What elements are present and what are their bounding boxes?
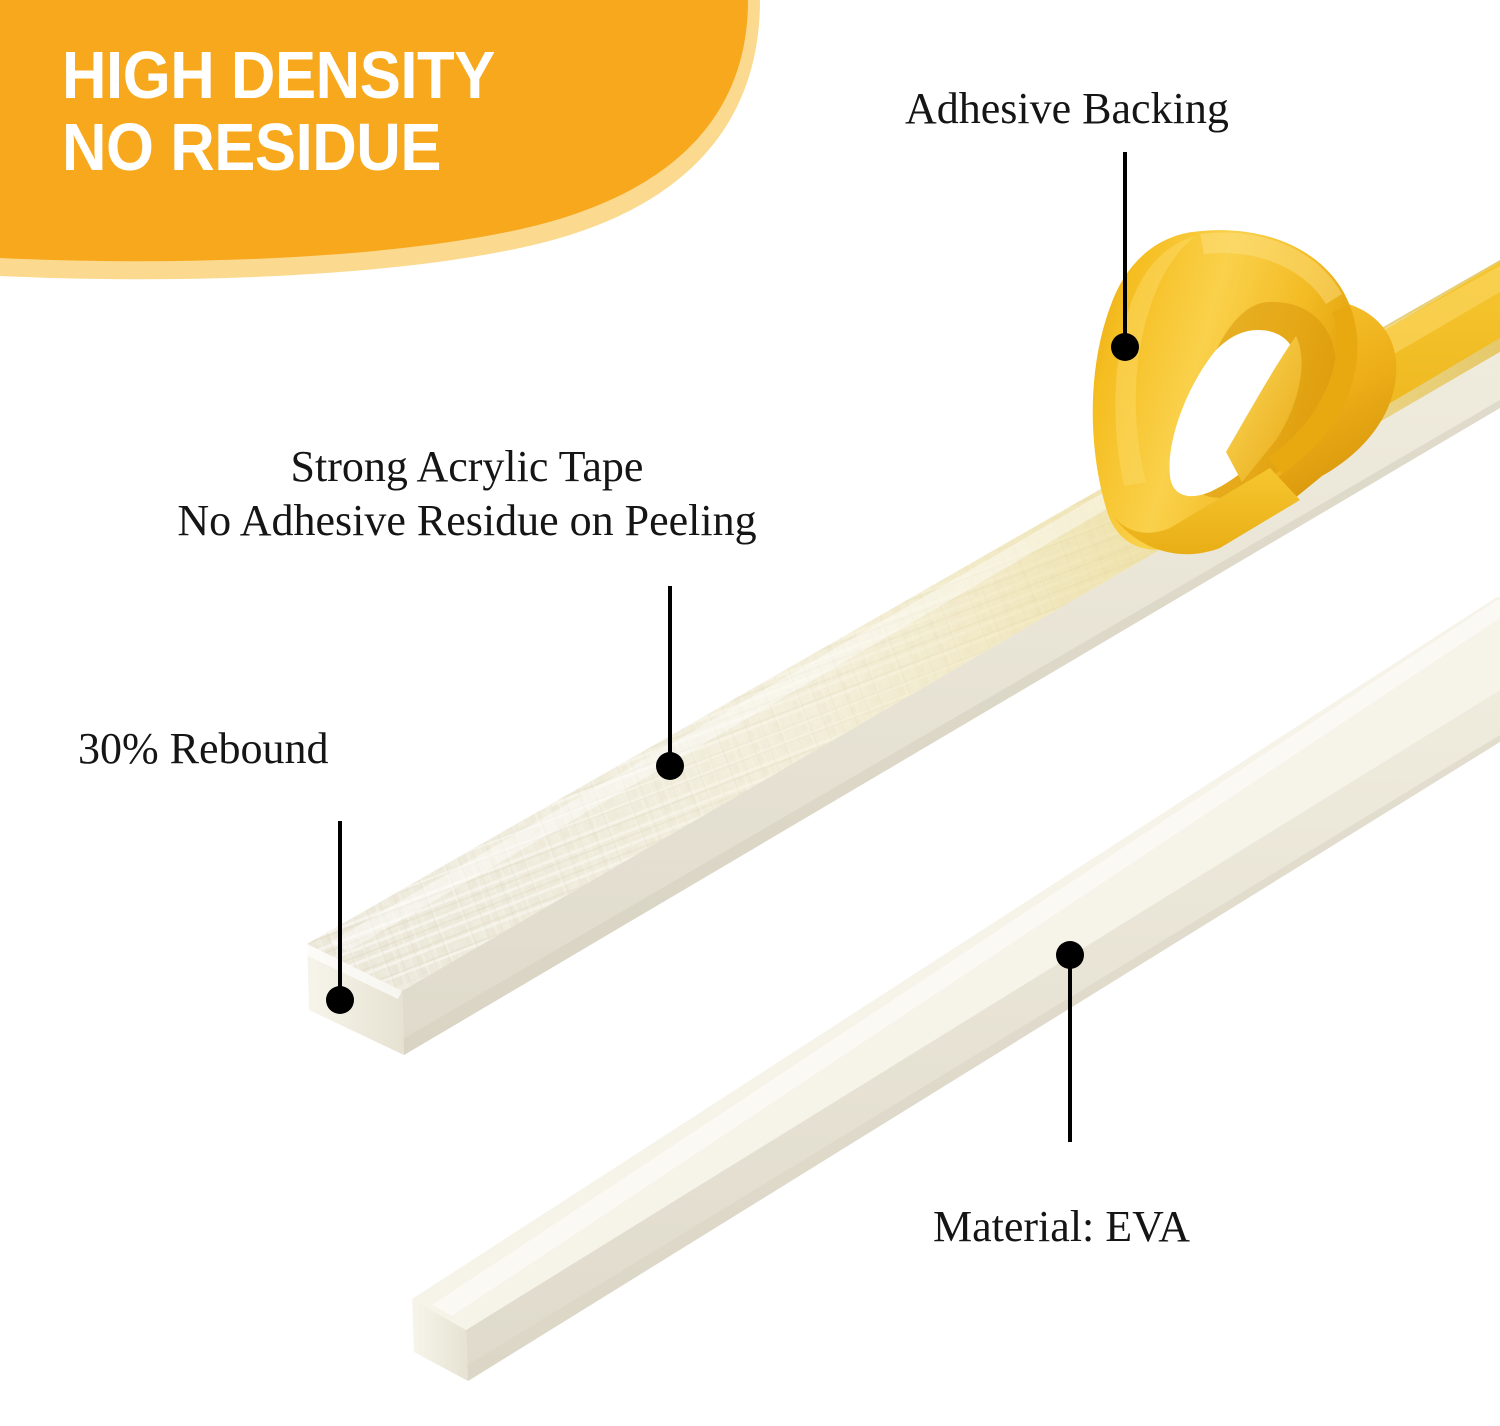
strip2-end-cap [412,1299,468,1381]
callout-material: Material: EVA [933,1200,1190,1254]
callout-acrylic-tape-line-2: No Adhesive Residue on Peeling [52,494,882,548]
liner-loop-base-fold [1110,468,1300,554]
liner-flat-section [1118,262,1500,524]
adhesive-backed-foam-strip [306,260,1500,1055]
strip1-adhesive-weave-lines [307,260,1500,991]
liner-loop-back-band [1236,299,1396,512]
strip1-adhesive-texture [307,260,1500,991]
liner-fold-tab [1226,336,1302,482]
strip1-top-face [307,260,1500,991]
leader-dot [1111,333,1139,361]
strip1-adhesive-residue [307,260,1500,991]
callout-adhesive-backing: Adhesive Backing [905,82,1229,136]
strip2-bottom-shadow [466,735,1500,1381]
leader-dot [1056,941,1084,969]
callout-adhesive-backing-text: Adhesive Backing [905,82,1229,136]
liner-loop-hole [1170,330,1299,496]
banner-title-line-2: NO RESIDUE [62,112,651,184]
leader-material [1056,941,1084,1142]
leader-dot [326,986,354,1014]
strip1-top-far-edge-highlight [330,262,1500,951]
strip1-end-cap-highlight [306,944,402,999]
callout-material-text: Material: EVA [933,1200,1190,1254]
callout-acrylic-tape: Strong Acrylic Tape No Adhesive Residue … [52,440,882,547]
banner-title-line-1: HIGH DENSITY [62,40,651,112]
strip2-front-face [466,690,1500,1381]
product-infographic: HIGH DENSITY NO RESIDUE [0,0,1500,1426]
callout-rebound: 30% Rebound [78,722,329,776]
callout-acrylic-tape-line-1: Strong Acrylic Tape [52,440,882,494]
banner-title: HIGH DENSITY NO RESIDUE [62,40,651,185]
liner-loop-inner-shadow [1185,302,1336,498]
strip1-end-cap [307,944,404,1055]
callout-rebound-text: 30% Rebound [78,722,329,776]
liner-loop-right-curl [1268,306,1357,474]
leader-rebound [326,821,354,1014]
plain-eva-foam-strip [412,597,1500,1381]
release-liner-on-strip [1118,262,1500,524]
leader-acrylic-tape [656,586,684,780]
leader-dot [656,752,684,780]
